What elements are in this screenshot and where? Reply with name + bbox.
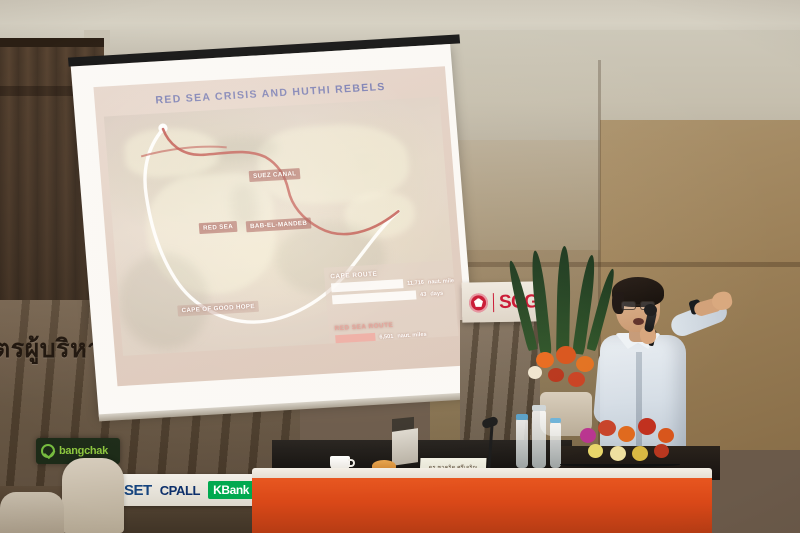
speaker-mouth [633,318,644,325]
flower-orange-3 [576,356,594,372]
scg-elephant-emblem-icon [469,293,488,312]
flower-red-2 [568,372,585,387]
cape-route-distance-unit: naut. miles [428,277,458,285]
curtain-rod [0,38,104,47]
flower-red-1 [548,368,564,382]
wall-trim [430,262,800,267]
cape-route-days-unit: days [430,290,443,297]
flower-cream-1 [528,366,542,379]
presentation-slide: RED SEA CRISIS AND HUTHI REBELS [93,66,469,386]
red-sea-route-distance-bar [335,333,376,344]
screen-surface: RED SEA CRISIS AND HUTHI REBELS [71,44,479,417]
red-sea-route-days-bar [336,343,403,356]
red-sea-route-days-unit: days [416,343,429,350]
water-bottle-1 [516,418,528,468]
table-flower-1 [580,428,596,443]
red-sea-route-days-row: 34 days [336,340,458,356]
table-skirt-orange [252,478,712,533]
red-sea-route-distance-value: 6,501 [379,333,393,340]
water-bottle-1-cap [516,414,528,420]
world-map-graphic: SUEZ CANAL RED SEA BAB-EL-MANDEB CAPE OF… [104,97,459,356]
table-flower-7 [610,446,626,461]
bangchak-check-icon [41,444,55,458]
table-flower-4 [638,418,656,435]
projection-screen: RED SEA CRISIS AND HUTHI REBELS [62,34,493,446]
presentation-photo-scene: ตรผู้บริหา bangchak SET CPALL KBank RED … [0,0,800,533]
water-bottle-2-cap [532,405,546,411]
flower-orange-1 [536,352,554,368]
table-flower-3 [618,426,635,442]
route-comparison-panel: CAPE ROUTE 11,716 naut. miles 43 days [324,260,459,356]
flower-orange-2 [556,346,576,364]
bangchak-logo-label: bangchak [59,445,108,457]
eyeglasses-bridge-icon [636,304,641,306]
map-label-red-sea: RED SEA [199,221,238,234]
eyeglasses-left-lens-icon [621,301,636,310]
laptop-lid [392,428,418,466]
table-flower-9 [654,444,669,458]
cape-route-days-value: 43 [420,291,427,297]
red-sea-route-days-value: 34 [406,344,413,350]
red-sea-route-distance-unit: naut. miles [397,331,427,339]
water-bottle-3-cap [550,418,561,423]
table-flower-8 [632,446,648,461]
table-flower-5 [658,428,674,443]
cape-route-distance-value: 11,716 [407,279,424,286]
audio-cable [560,462,680,467]
water-bottle-2 [532,410,546,468]
cpall-logo-label: CPALL [160,483,200,498]
cape-route-distance-bar [331,279,404,292]
chair-front-left-2 [0,492,64,533]
table-flower-6 [588,444,603,458]
cape-route-days-bar [332,290,417,304]
set-logo-label: SET [124,482,152,499]
kbank-logo-label: KBank [208,481,254,499]
table-flower-2 [598,420,616,436]
chair-front-left [62,458,124,533]
